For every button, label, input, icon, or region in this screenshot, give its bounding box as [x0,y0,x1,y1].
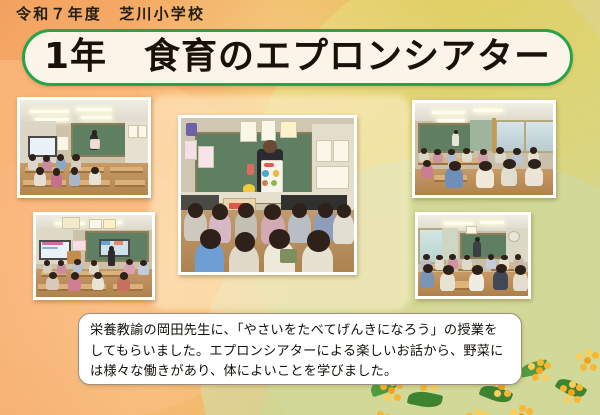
photo-classroom-wide-left [17,97,151,198]
caption-text: 栄養教諭の岡田先生に、「やさいをたべてげんきになろう」の授業をしてもらいました。… [90,321,510,383]
photo-classroom-left-bottom [33,212,155,300]
photo-classroom-right-top [412,100,556,198]
school-year-header: 令和７年度 芝川小学校 [16,3,205,24]
photo-classroom-right-bottom [415,212,531,299]
photo-apron-theater-center [178,115,357,275]
page-title: 1年 食育のエプロンシアター [44,39,551,75]
poster-page: 令和７年度 芝川小学校 1年 食育のエプロンシアター [0,0,600,415]
caption-box: 栄養教諭の岡田先生に、「やさいをたべてげんきになろう」の授業をしてもらいました。… [78,313,522,385]
title-banner: 1年 食育のエプロンシアター [22,29,573,86]
